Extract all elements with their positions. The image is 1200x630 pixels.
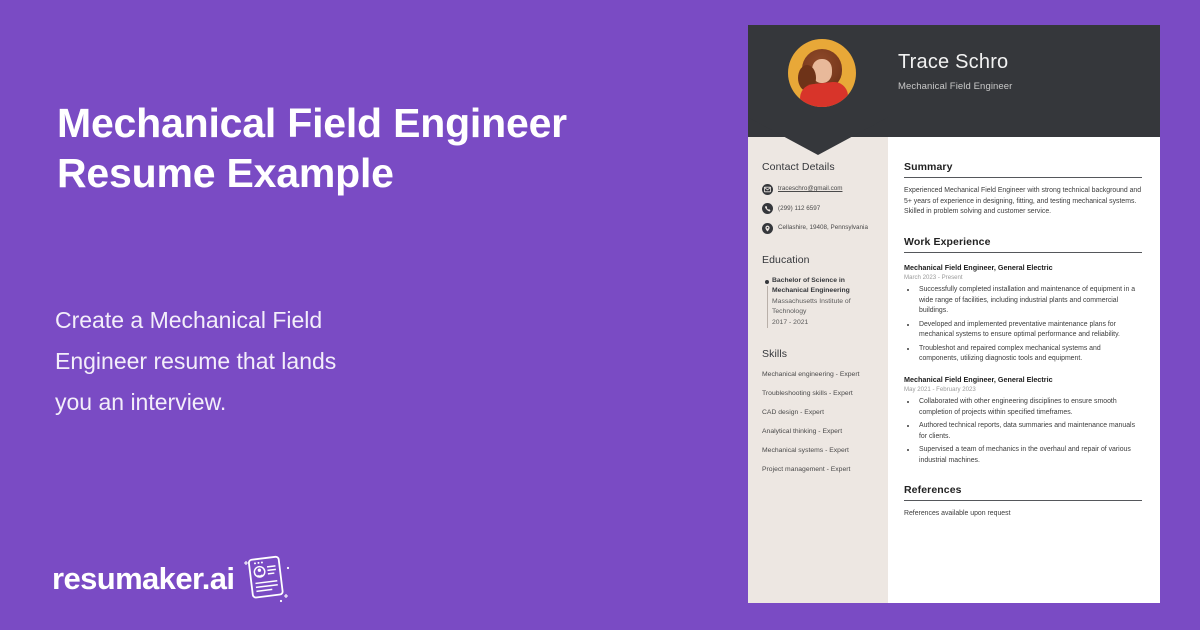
contact-item-location[interactable]: Cellashire, 19408, Pennsylvania	[762, 222, 876, 234]
education-bullet-marker	[762, 276, 772, 328]
resumaker-logo[interactable]: resumaker.ai	[52, 552, 293, 606]
resume-sidebar: Contact Details traceschro@gmail.com (29…	[748, 137, 888, 603]
location-pin-icon	[762, 223, 773, 234]
work-experience-section: Work Experience Mechanical Field Enginee…	[904, 236, 1142, 467]
skills-heading: Skills	[762, 348, 876, 360]
references-section: References References available upon req…	[904, 484, 1142, 520]
contact-heading: Contact Details	[762, 161, 876, 173]
logo-wordmark: resumaker.ai	[52, 561, 234, 597]
education-school: Massachusetts Institute of Technology	[772, 297, 876, 317]
candidate-name: Trace Schro	[898, 51, 1012, 74]
skill-item: Mechanical engineering - Expert	[762, 370, 876, 380]
job-bullet: Troubleshot and repaired complex mechani…	[917, 344, 1142, 365]
contact-item-email[interactable]: traceschro@gmail.com	[762, 183, 876, 195]
job-bullet: Authored technical reports, data summari…	[917, 421, 1142, 442]
contact-email-text: traceschro@gmail.com	[778, 183, 842, 194]
summary-heading: Summary	[904, 161, 1142, 178]
candidate-role: Mechanical Field Engineer	[898, 81, 1012, 92]
promo-panel: Mechanical Field Engineer Resume Example…	[0, 0, 748, 630]
page-title: Mechanical Field Engineer Resume Example	[57, 98, 677, 198]
skill-item: Analytical thinking - Expert	[762, 427, 876, 437]
skills-section: Skills Mechanical engineering - Expert T…	[762, 348, 876, 475]
skill-item: CAD design - Expert	[762, 408, 876, 418]
education-degree: Bachelor of Science in Mechanical Engine…	[772, 276, 876, 296]
job-bullet-list: Collaborated with other engineering disc…	[917, 397, 1142, 466]
phone-icon	[762, 203, 773, 214]
promo-subheading: Create a Mechanical Field Engineer resum…	[55, 300, 455, 423]
job-bullet: Successfully completed installation and …	[917, 285, 1142, 317]
skill-item: Troubleshooting skills - Expert	[762, 389, 876, 399]
contact-item-phone[interactable]: (299) 112 6597	[762, 203, 876, 215]
education-heading: Education	[762, 254, 876, 266]
avatar	[788, 39, 856, 107]
skill-item: Project management - Expert	[762, 465, 876, 475]
job-entry: Mechanical Field Engineer, General Elect…	[904, 375, 1142, 467]
job-bullet-list: Successfully completed installation and …	[917, 285, 1142, 365]
work-experience-heading: Work Experience	[904, 236, 1142, 253]
references-heading: References	[904, 484, 1142, 501]
resume-main-column: Summary Experienced Mechanical Field Eng…	[888, 137, 1160, 603]
job-title: Mechanical Field Engineer, General Elect…	[904, 375, 1142, 385]
job-title: Mechanical Field Engineer, General Elect…	[904, 263, 1142, 273]
summary-section: Summary Experienced Mechanical Field Eng…	[904, 161, 1142, 218]
contact-phone-text: (299) 112 6597	[778, 203, 820, 214]
skill-item: Mechanical systems - Expert	[762, 446, 876, 456]
education-years: 2017 - 2021	[772, 318, 876, 328]
job-bullet: Supervised a team of mechanics in the ov…	[917, 445, 1142, 466]
resume-preview-card[interactable]: Trace Schro Mechanical Field Engineer Co…	[748, 25, 1160, 603]
job-entry: Mechanical Field Engineer, General Elect…	[904, 263, 1142, 365]
resume-document-icon	[237, 552, 293, 606]
education-section: Education Bachelor of Science in Mechani…	[762, 254, 876, 328]
job-bullet: Collaborated with other engineering disc…	[917, 397, 1142, 418]
job-dates: May 2021 - February 2023	[904, 386, 1142, 393]
contact-section: Contact Details traceschro@gmail.com (29…	[762, 161, 876, 234]
job-bullet: Developed and implemented preventative m…	[917, 320, 1142, 341]
education-item: Bachelor of Science in Mechanical Engine…	[762, 276, 876, 328]
contact-location-text: Cellashire, 19408, Pennsylvania	[778, 222, 868, 233]
job-dates: March 2023 - Present	[904, 274, 1142, 281]
envelope-icon	[762, 184, 773, 195]
references-text: References available upon request	[904, 509, 1142, 520]
summary-text: Experienced Mechanical Field Engineer wi…	[904, 186, 1142, 218]
